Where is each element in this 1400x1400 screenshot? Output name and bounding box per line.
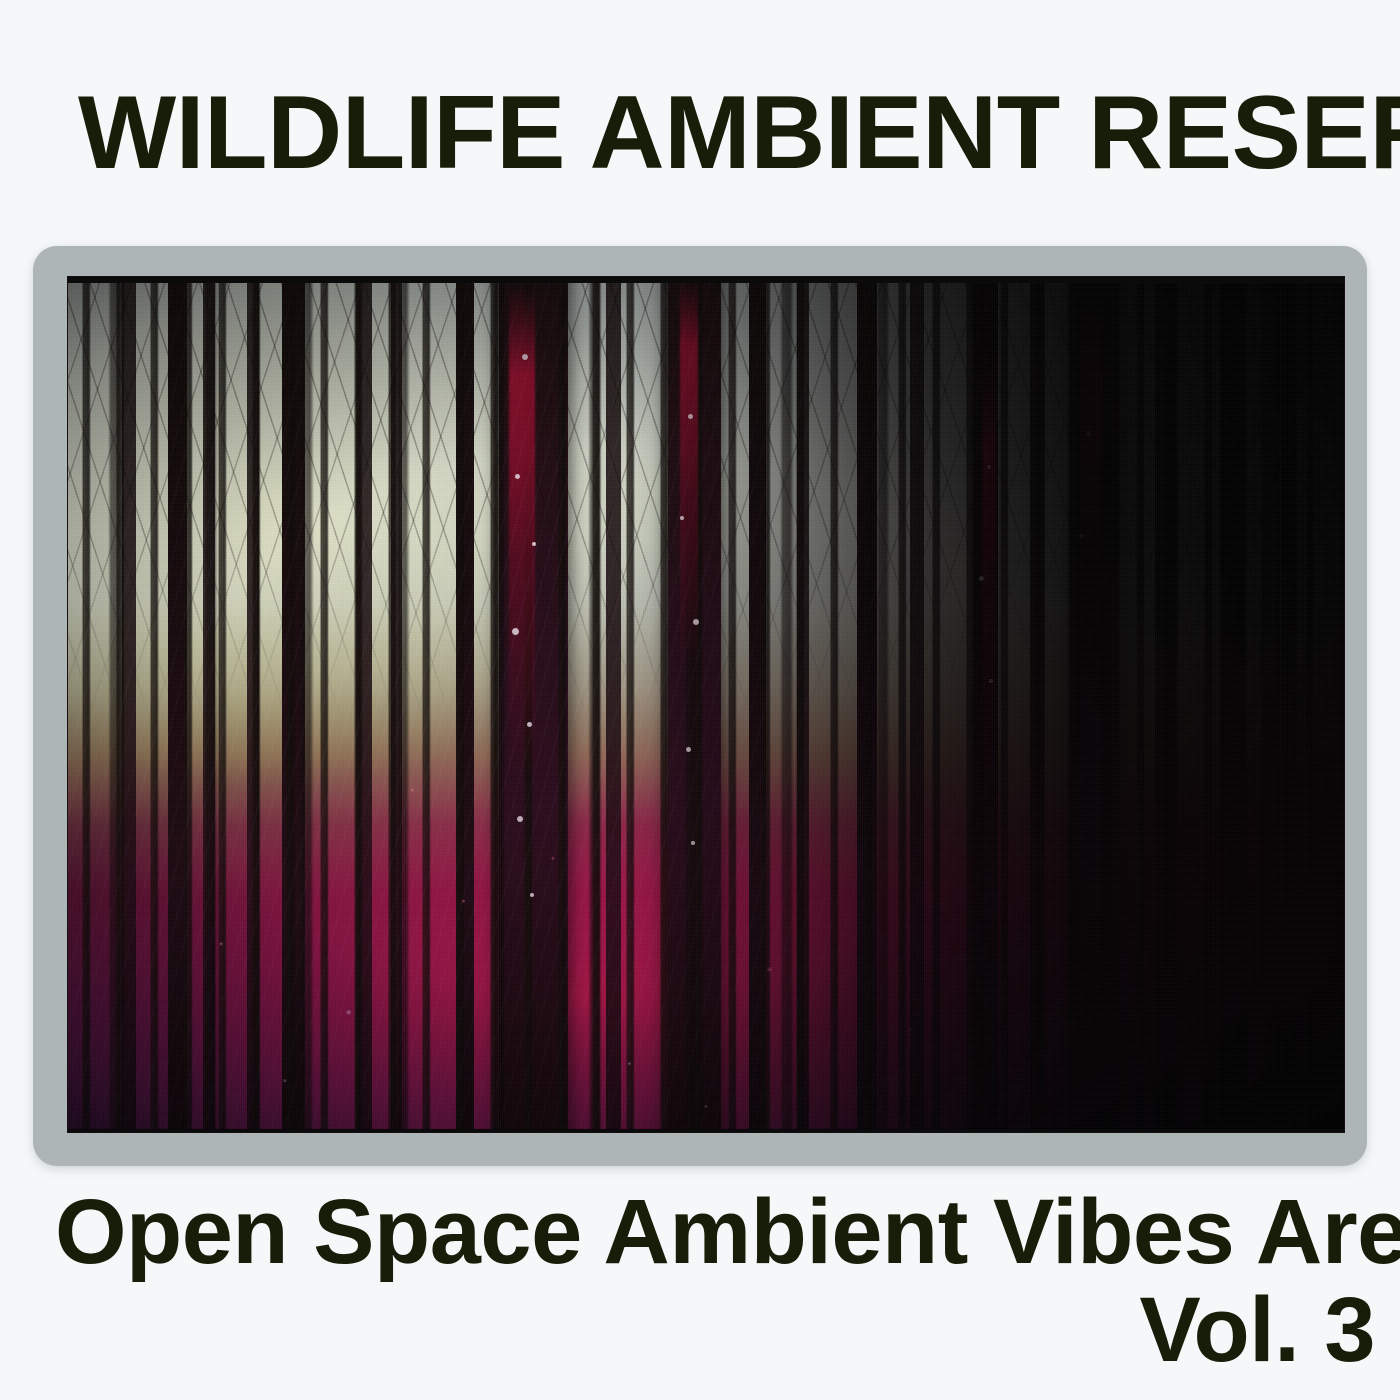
photo-bottom-edge [68, 1129, 1344, 1132]
album-title-line-2: Vol. 3 [55, 1281, 1375, 1379]
page-title: WILDLIFE AMBIENT RESERVE [78, 78, 1353, 188]
album-title: Open Space Ambient Vibes Area Vol. 3 [55, 1183, 1375, 1379]
album-cover: WILDLIFE AMBIENT RESERVE Open Space Ambi… [0, 0, 1400, 1400]
album-title-line-1: Open Space Ambient Vibes Area [55, 1183, 1375, 1281]
artwork-photo [68, 277, 1344, 1132]
photo-top-edge [68, 277, 1344, 283]
artwork-frame [33, 246, 1367, 1166]
film-grain-layer [68, 277, 1344, 1132]
